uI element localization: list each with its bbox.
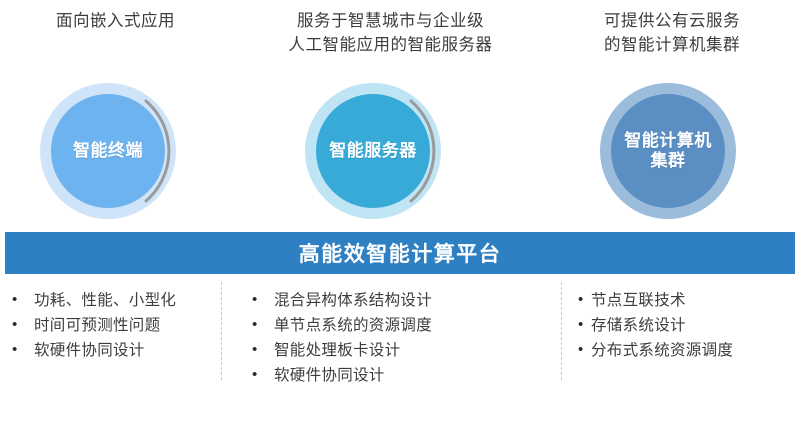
list-item-label: 功耗、性能、小型化 (34, 288, 176, 313)
bullet-area: • 功耗、性能、小型化 • 时间可预测性问题 • 软硬件协同设计 • 混合异构体… (0, 288, 800, 408)
list-item-label: 单节点系统的资源调度 (274, 313, 432, 338)
platform-banner-title: 高能效智能计算平台 (299, 238, 502, 268)
list-item-label: 软硬件协同设计 (34, 338, 145, 363)
node-server-label: 智能服务器 (316, 94, 430, 208)
bullets-terminal: • 功耗、性能、小型化 • 时间可预测性问题 • 软硬件协同设计 (12, 288, 217, 363)
list-item: • 软硬件协同设计 (12, 338, 217, 363)
list-item-label: 智能处理板卡设计 (274, 338, 400, 363)
node-row: 智能终端 智能服务器 智能计算机 集群 (0, 83, 800, 219)
caption-cluster: 可提供公有云服务 的智能计算机集群 (552, 10, 792, 58)
list-item-label: 存储系统设计 (591, 313, 686, 338)
caption-embedded: 面向嵌入式应用 (8, 10, 223, 34)
list-item: • 分布式系统资源调度 (578, 338, 793, 363)
node-server[interactable]: 智能服务器 (305, 83, 441, 219)
bullet-dot-icon: • (12, 288, 34, 312)
bullet-dot-icon: • (252, 313, 274, 337)
list-item: • 智能处理板卡设计 (252, 338, 542, 363)
list-item: • 软硬件协同设计 (252, 363, 542, 388)
node-terminal[interactable]: 智能终端 (40, 83, 176, 219)
bullet-dot-icon: • (12, 338, 34, 362)
list-item-label: 混合异构体系结构设计 (274, 288, 432, 313)
caption-server: 服务于智慧城市与企业级 人工智能应用的智能服务器 (238, 10, 543, 58)
list-item-label: 分布式系统资源调度 (591, 338, 733, 363)
bullets-cluster: • 节点互联技术 • 存储系统设计 • 分布式系统资源调度 (578, 288, 793, 363)
bullet-dot-icon: • (578, 338, 591, 362)
list-item-label: 软硬件协同设计 (274, 363, 385, 388)
bullet-dot-icon: • (578, 288, 591, 312)
platform-banner: 高能效智能计算平台 (5, 232, 795, 274)
node-terminal-label: 智能终端 (51, 94, 165, 208)
bullet-dot-icon: • (252, 363, 274, 387)
node-cluster[interactable]: 智能计算机 集群 (600, 83, 736, 219)
list-item: • 单节点系统的资源调度 (252, 313, 542, 338)
list-item: • 时间可预测性问题 (12, 313, 217, 338)
bullet-dot-icon: • (12, 313, 34, 337)
list-item: • 功耗、性能、小型化 (12, 288, 217, 313)
list-item-label: 节点互联技术 (591, 288, 686, 313)
node-cluster-label: 智能计算机 集群 (611, 94, 725, 208)
list-item: • 存储系统设计 (578, 313, 793, 338)
bullet-dot-icon: • (578, 313, 591, 337)
bullet-dot-icon: • (252, 288, 274, 312)
list-item-label: 时间可预测性问题 (34, 313, 160, 338)
bullets-server: • 混合异构体系结构设计 • 单节点系统的资源调度 • 智能处理板卡设计 • 软… (252, 288, 542, 388)
list-item: • 节点互联技术 (578, 288, 793, 313)
list-item: • 混合异构体系结构设计 (252, 288, 542, 313)
bullet-dot-icon: • (252, 338, 274, 362)
